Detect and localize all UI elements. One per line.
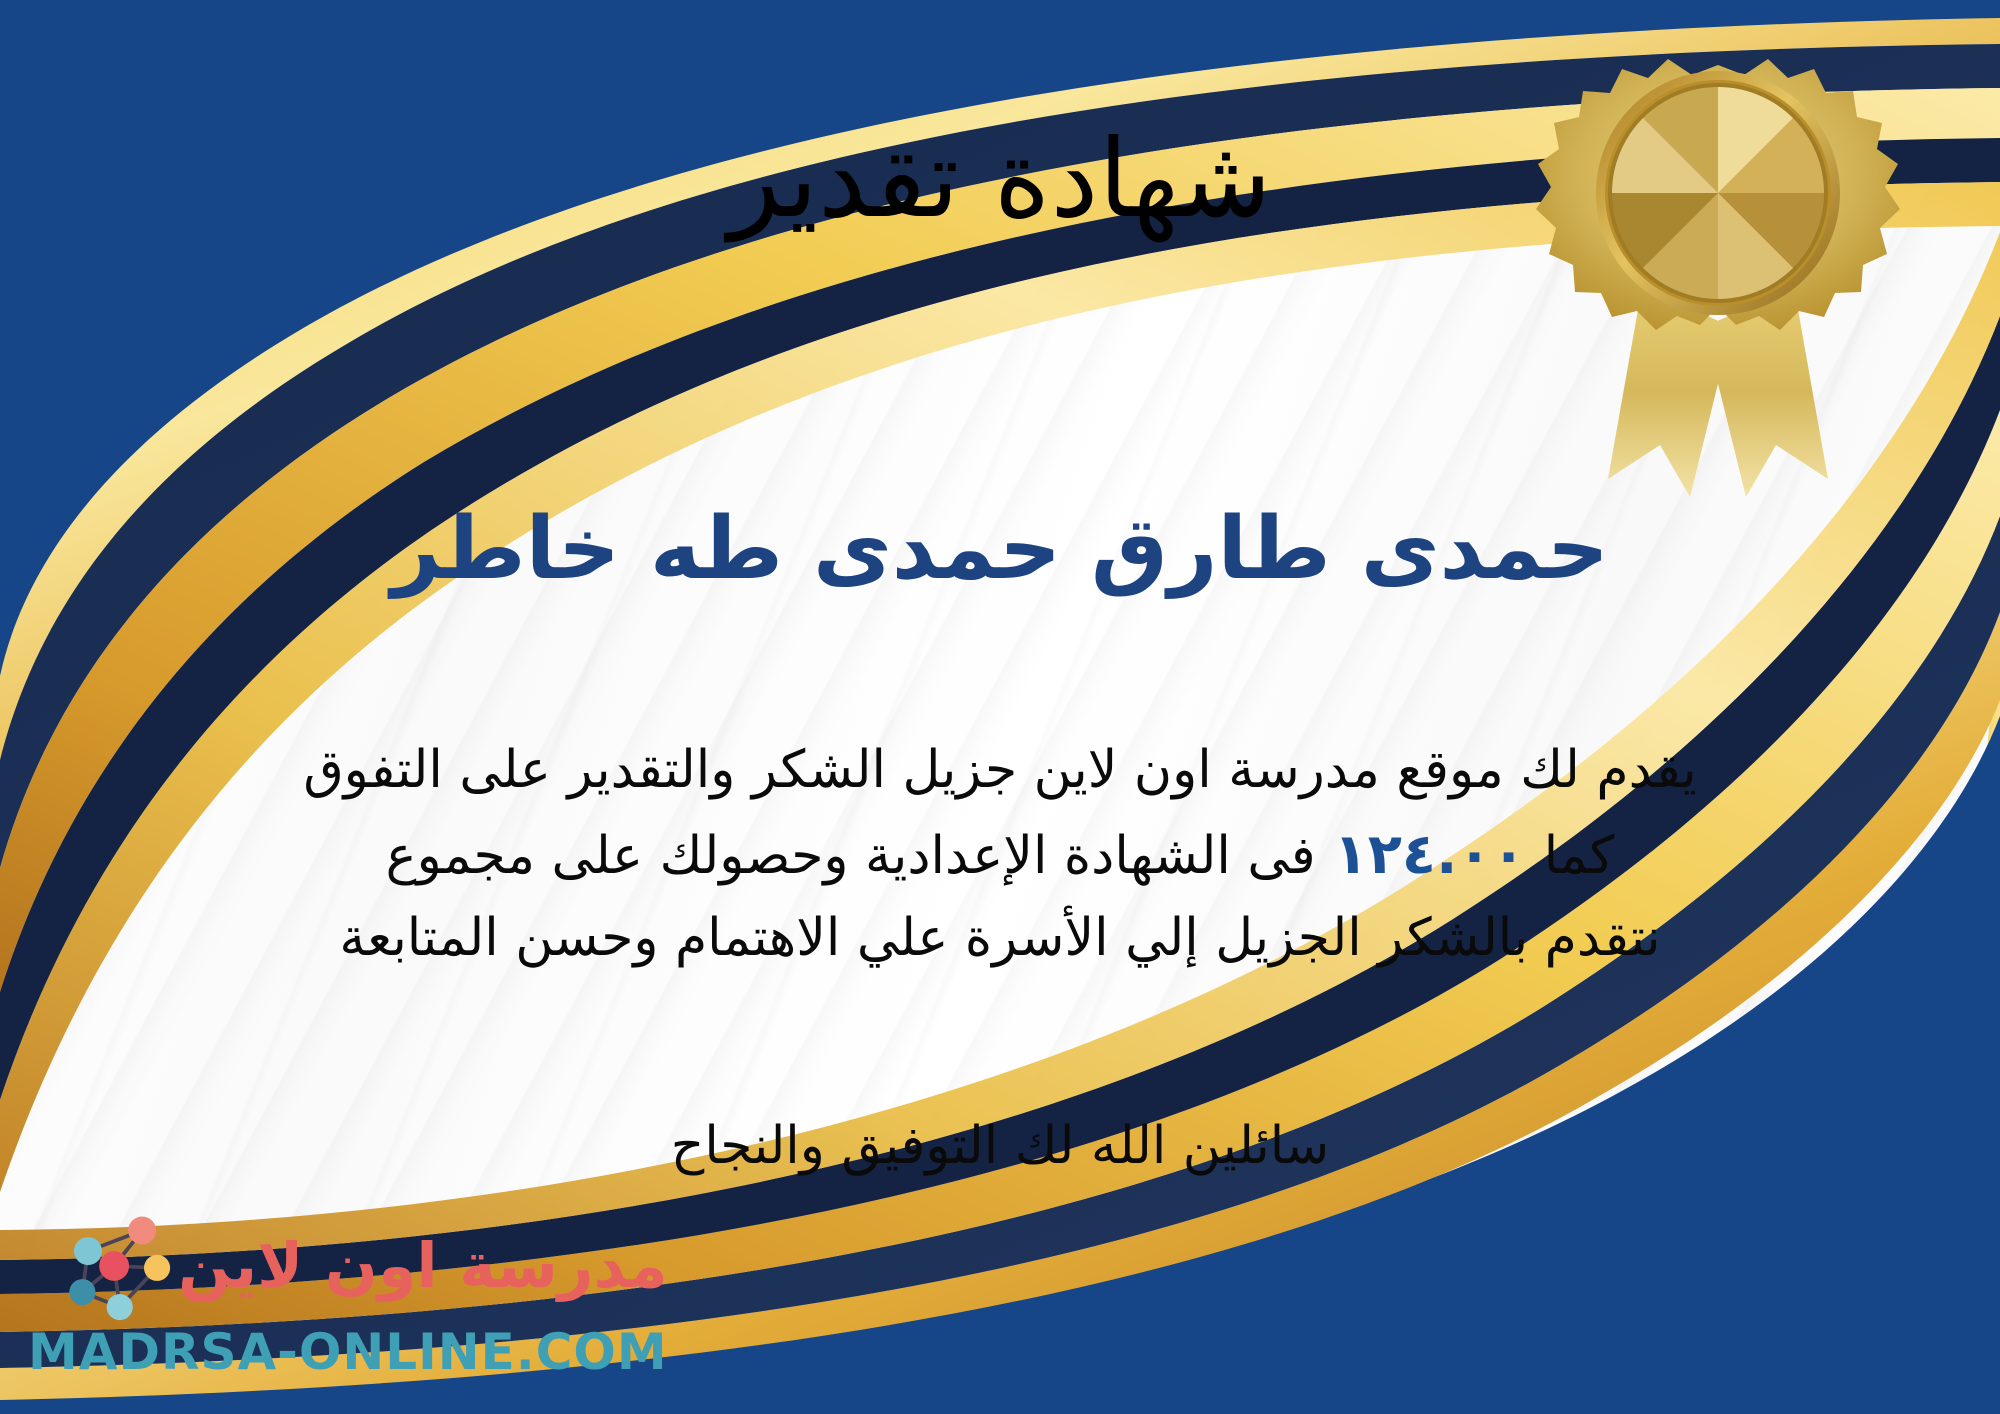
body-line-1: يقدم لك موقع مدرسة اون لاين جزيل الشكر و…: [60, 730, 1940, 811]
total-score-value: ١٢٤.٠٠: [1316, 811, 1544, 898]
network-nodes-icon: [60, 1210, 172, 1322]
recipient-name: حمدى طارق حمدى طه خاطر: [0, 498, 2000, 601]
logo-website-url: MADRSA-ONLINE.COM: [28, 1326, 668, 1379]
body-line-2-left-text: كما: [1544, 816, 1615, 897]
page-title: شهادة تقدير: [0, 118, 2000, 242]
body-line-2: كما ١٢٤.٠٠ فى الشهادة الإعدادية وحصولك ع…: [60, 811, 1940, 898]
body-line-2-right-text: فى الشهادة الإعدادية وحصولك على مجموع: [386, 816, 1316, 897]
closing-line: سائلين الله لك التوفيق والنجاح: [0, 1110, 2000, 1183]
body-line-3: نتقدم بالشكر الجزيل إلي الأسرة علي الاهت…: [60, 898, 1940, 979]
certificate-body: يقدم لك موقع مدرسة اون لاين جزيل الشكر و…: [60, 730, 1940, 980]
certificate-page: شهادة تقدير حمدى طارق حمدى طه خاطر يقدم …: [0, 0, 2000, 1414]
certificate-content: شهادة تقدير حمدى طارق حمدى طه خاطر يقدم …: [0, 0, 2000, 1414]
logo-top-row: مدرسة اون لاين: [60, 1210, 668, 1322]
logo-arabic-name: مدرسة اون لاين: [178, 1235, 668, 1297]
site-logo[interactable]: مدرسة اون لاين MADRSA-ONLINE.COM: [28, 1210, 668, 1379]
